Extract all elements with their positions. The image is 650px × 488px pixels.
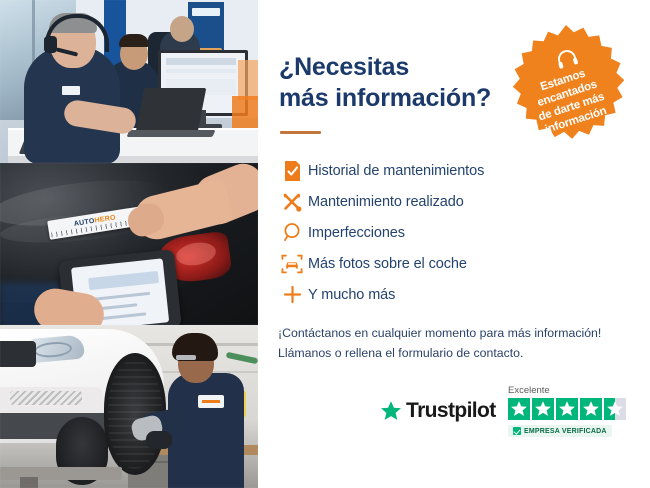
trustpilot-wordmark: Trustpilot — [406, 399, 496, 423]
promo-banner: AUTOHERO — [0, 0, 650, 488]
mechanic-glove-dark — [146, 431, 172, 449]
autohero-ruler: AUTOHERO — [47, 205, 151, 240]
office-wall — [76, 0, 258, 118]
list-item: Y mucho más — [276, 279, 576, 310]
background-colleague-two — [160, 30, 200, 72]
plus-icon — [276, 282, 308, 308]
list-item-label: Historial de mantenimientos — [308, 163, 484, 179]
workshop-wall-line — [120, 343, 258, 346]
tools-cross-icon — [276, 189, 308, 215]
rating-star — [532, 398, 554, 420]
workshop-cabinet — [128, 455, 200, 488]
verified-company-badge: EMPRESA VERIFICADA — [508, 425, 612, 437]
list-item: Imperfecciones — [276, 217, 576, 248]
agent-headset-mic — [56, 47, 78, 56]
agent-arm — [62, 99, 137, 136]
car-lift-ramp — [0, 467, 122, 480]
list-item-label: Mantenimiento realizado — [308, 194, 464, 210]
trustpilot-block[interactable]: Trustpilot Excelente EMPRESA VERIFICADA — [380, 385, 650, 455]
technician-forearm — [189, 163, 258, 230]
desk-surface — [8, 128, 258, 160]
monitor-screen-row — [166, 58, 236, 65]
mechanic-torso — [168, 373, 244, 488]
status-badge: Estamos encantados de darte más informac… — [499, 23, 633, 157]
agent-hair — [49, 13, 97, 33]
mechanic-hair — [172, 333, 218, 361]
magnifier-icon — [276, 220, 308, 246]
trustpilot-star-rating — [508, 398, 626, 420]
tail-light-glass — [174, 240, 217, 269]
list-item: Mantenimiento realizado — [276, 186, 576, 217]
workshop-bottle — [232, 391, 246, 417]
car-underside — [0, 413, 112, 439]
contact-note: ¡Contáctanos en cualquier momento para m… — [278, 324, 628, 364]
agent-torso — [24, 46, 120, 163]
foreground-blur — [0, 283, 60, 325]
office-window — [0, 0, 76, 120]
car-bumper — [0, 387, 102, 413]
photo-background — [0, 163, 258, 325]
ruler-ticks — [51, 217, 149, 237]
desk-edge — [8, 156, 258, 163]
ruler-brand-text: AUTOHERO — [73, 214, 116, 228]
tail-light — [157, 230, 233, 285]
background-colleague-two-head — [170, 16, 194, 42]
tyre-tread — [108, 359, 162, 469]
call-center-agent-photo — [0, 0, 258, 163]
rating-star — [556, 398, 578, 420]
list-item-label: Imperfecciones — [308, 225, 405, 241]
background-colleague-one-hair — [119, 34, 149, 47]
office-chair — [148, 32, 180, 84]
ruler-brand-hero: HERO — [94, 214, 116, 224]
tablet-screen-line — [92, 312, 146, 321]
document-check-icon — [276, 158, 308, 184]
orange-object-far — [238, 60, 258, 100]
car-headlight — [25, 335, 85, 364]
agent-head — [50, 16, 96, 68]
monitor-stand — [192, 110, 206, 126]
orange-object-near — [232, 96, 258, 163]
laptop-screen — [136, 88, 207, 132]
mechanic-head — [178, 343, 214, 383]
agent-name-badge — [62, 86, 80, 95]
wall-poster — [188, 2, 224, 60]
verified-check-icon — [513, 427, 521, 435]
agent-headset-earcup — [44, 36, 57, 53]
laptop-keyboard — [126, 130, 215, 137]
desktop-monitor — [158, 50, 248, 116]
workshop-wall-line — [150, 371, 258, 373]
agent-headset-band — [45, 14, 109, 52]
monitor-screen-row — [166, 79, 236, 95]
trustpilot-logo[interactable]: Trustpilot — [380, 399, 496, 423]
rear-tyre — [56, 417, 108, 485]
feature-list: Historial de mantenimientos Mantenimient… — [276, 155, 576, 310]
car-bumper-mesh — [10, 391, 82, 405]
photo-column: AUTOHERO — [0, 0, 258, 488]
rating-star — [508, 398, 530, 420]
mechanic-wheel-photo — [0, 325, 258, 488]
verified-company-label: EMPRESA VERIFICADA — [524, 428, 607, 435]
contact-note-line-1: ¡Contáctanos en cualquier momento para m… — [278, 324, 628, 344]
inspection-tablet — [58, 249, 182, 325]
technician-hand-upper — [130, 178, 234, 244]
contact-note-line-2: Llámanos o rellena el formulario de cont… — [278, 344, 628, 364]
background-colleague-one — [104, 60, 160, 134]
window-mullion — [32, 0, 35, 120]
car-scan-icon — [276, 251, 308, 277]
monitor-screen-row — [166, 69, 236, 73]
title-divider — [280, 131, 321, 134]
car-grille — [0, 341, 36, 367]
white-car-front — [0, 329, 164, 443]
mechanic-safety-glasses — [176, 355, 196, 360]
photo-background — [0, 325, 258, 488]
list-item-label: Más fotos sobre el coche — [308, 256, 467, 272]
mechanic-glove — [130, 414, 164, 443]
list-item: Más fotos sobre el coche — [276, 248, 576, 279]
trustpilot-star-icon — [380, 400, 402, 422]
front-tyre — [104, 353, 166, 475]
list-item-label: Y mucho más — [308, 287, 395, 303]
wall-blue-panel — [104, 0, 126, 70]
rating-star — [580, 398, 602, 420]
tablet-screen-line — [90, 292, 150, 301]
technician-hand-lower — [31, 285, 107, 325]
car-body-highlight — [0, 172, 172, 234]
ruler-brand-auto: AUTO — [73, 218, 95, 228]
trustpilot-rating-label: Excelente — [508, 385, 550, 396]
car-inspection-ruler-photo: AUTOHERO — [0, 163, 258, 325]
car-body-highlight — [0, 209, 151, 248]
rating-star-half — [604, 398, 626, 420]
car-body-dark — [0, 163, 200, 303]
workshop-hose — [226, 352, 258, 365]
tablet-screen-header — [88, 271, 159, 290]
workshop-bench — [128, 445, 258, 455]
wall-poster-secondary — [192, 48, 222, 70]
technician-fingers — [124, 199, 169, 240]
photo-background — [0, 0, 258, 163]
tablet-screen — [71, 258, 169, 325]
tablet-screen-line — [91, 303, 137, 311]
background-colleague-one-head — [120, 38, 148, 70]
mechanic-arm — [138, 406, 188, 439]
desk-tablet — [19, 138, 81, 154]
headline-line-2: más información? — [279, 83, 524, 114]
monitor-base — [178, 124, 222, 129]
mechanic-shoulder-badge — [198, 395, 224, 408]
car-lift-post — [20, 477, 38, 488]
